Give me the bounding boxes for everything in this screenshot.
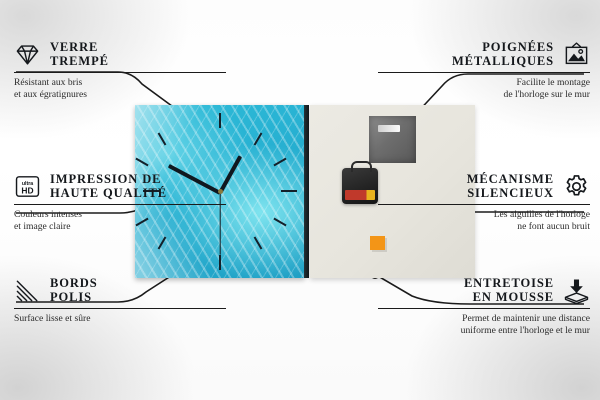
- divider: [378, 308, 590, 309]
- tick-2: [273, 158, 286, 167]
- feature-title: VERRE TREMPÉ: [50, 40, 109, 68]
- feature-subtitle: Résistant aux bris et aux égratignures: [14, 77, 226, 102]
- divider: [378, 72, 590, 73]
- feature-title: POIGNÉES MÉTALLIQUES: [452, 40, 554, 68]
- tick-5: [254, 236, 263, 249]
- gear-icon: [563, 173, 590, 200]
- feature-title: IMPRESSION DE HAUTE QUALITÉ: [50, 172, 167, 200]
- feature-subtitle: Facilite le montage de l'horloge sur le …: [378, 77, 590, 102]
- clock-edge: [304, 105, 309, 278]
- feature-entretoise-en-mousse: ENTRETOISE EN MOUSSE Permet de maintenir…: [378, 276, 590, 338]
- tick-1: [254, 132, 263, 145]
- foam-spacer-arrow-icon: [563, 277, 590, 304]
- tick-10: [135, 158, 148, 167]
- tick-3: [281, 190, 297, 192]
- feature-subtitle: Surface lisse et sûre: [14, 313, 226, 325]
- tick-4: [273, 218, 286, 227]
- divider: [14, 72, 226, 73]
- feature-subtitle: Couleurs intenses et image claire: [14, 209, 226, 234]
- feature-verre-trempe: VERRE TREMPÉ Résistant aux bris et aux é…: [14, 40, 226, 102]
- feature-mecanisme-silencieux: MÉCANISME SILENCIEUX Les aiguilles de l'…: [378, 172, 590, 234]
- battery: [345, 190, 375, 200]
- divider: [378, 204, 590, 205]
- quartz-mechanism-box: [342, 168, 378, 204]
- divider: [14, 204, 226, 205]
- metal-hanger-plate: [369, 116, 416, 163]
- framed-picture-hanger-icon: [563, 41, 590, 68]
- tick-6: [219, 255, 221, 270]
- infographic-canvas: VERRE TREMPÉ Résistant aux bris et aux é…: [0, 0, 600, 400]
- tick-7: [158, 236, 167, 249]
- feature-subtitle: Permet de maintenir une distance uniform…: [378, 313, 590, 338]
- feature-bords-polis: BORDS POLIS Surface lisse et sûre: [14, 276, 226, 325]
- ultra-hd-badge-icon: ultra HD: [14, 173, 41, 200]
- polished-edges-icon: [14, 277, 41, 304]
- mechanism-hook: [351, 161, 372, 172]
- divider: [14, 308, 226, 309]
- tick-12: [219, 113, 221, 128]
- feature-impression-haute-qualite: ultra HD IMPRESSION DE HAUTE QUALITÉ Cou…: [14, 172, 226, 234]
- feature-poignees-metalliques: POIGNÉES MÉTALLIQUES Facilite le montage…: [378, 40, 590, 102]
- diamond-icon: [14, 41, 41, 68]
- hanger-slot: [378, 125, 400, 132]
- feature-title: BORDS POLIS: [50, 276, 98, 304]
- foam-spacer-pad: [370, 236, 385, 250]
- svg-text:HD: HD: [21, 185, 33, 195]
- tick-11: [158, 132, 167, 145]
- feature-title: ENTRETOISE EN MOUSSE: [464, 276, 554, 304]
- feature-title: MÉCANISME SILENCIEUX: [467, 172, 554, 200]
- feature-subtitle: Les aiguilles de l'horloge ne font aucun…: [378, 209, 590, 234]
